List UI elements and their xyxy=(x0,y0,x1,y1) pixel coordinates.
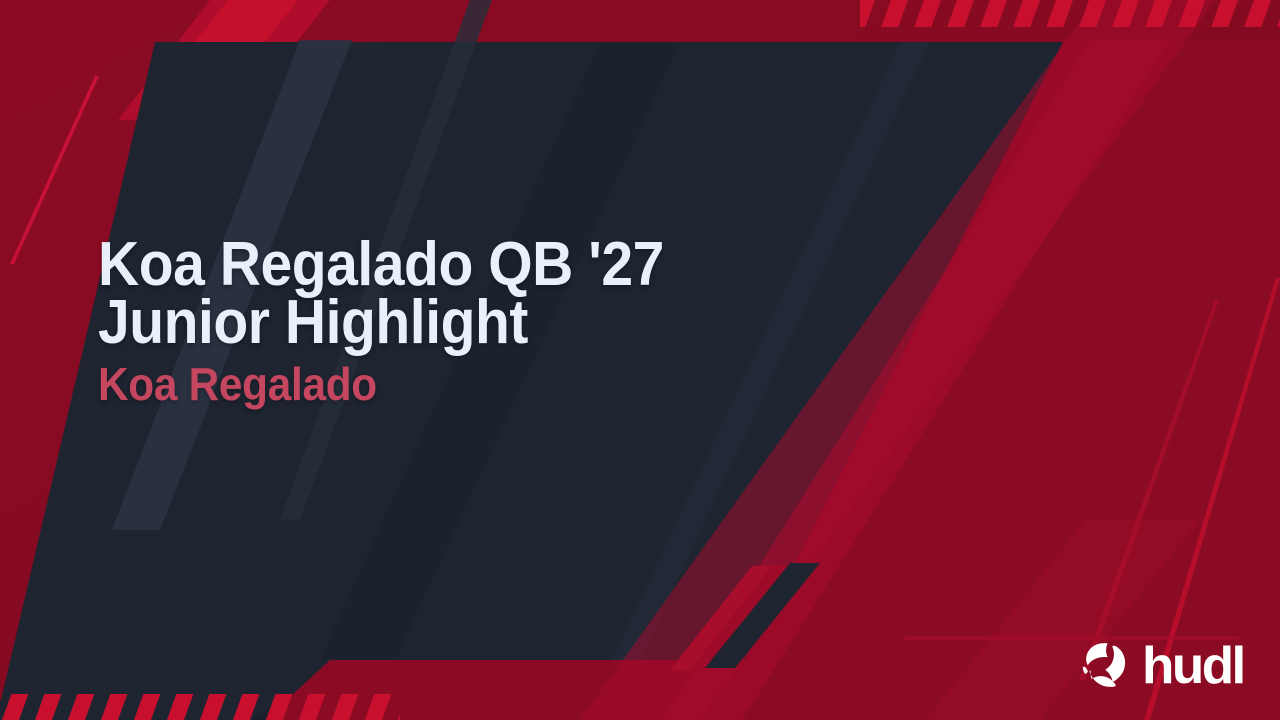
hudl-swirl-logo-icon xyxy=(1079,641,1133,691)
subtitle-athlete-name: Koa Regalado xyxy=(98,361,797,407)
bottom-left-diagonal-hatch xyxy=(0,694,400,720)
title-block: Koa Regalado QB '27 Junior Highlight Koa… xyxy=(98,236,858,407)
hudl-highlight-title-card: Koa Regalado QB '27 Junior Highlight Koa… xyxy=(0,0,1280,720)
hudl-logo: hudl xyxy=(1079,640,1242,692)
hudl-wordmark: hudl xyxy=(1142,640,1244,692)
title-line-1: Koa Regalado QB '27 xyxy=(98,236,797,294)
top-right-diagonal-hatch xyxy=(860,0,1280,27)
title-line-2: Junior Highlight xyxy=(98,294,797,352)
